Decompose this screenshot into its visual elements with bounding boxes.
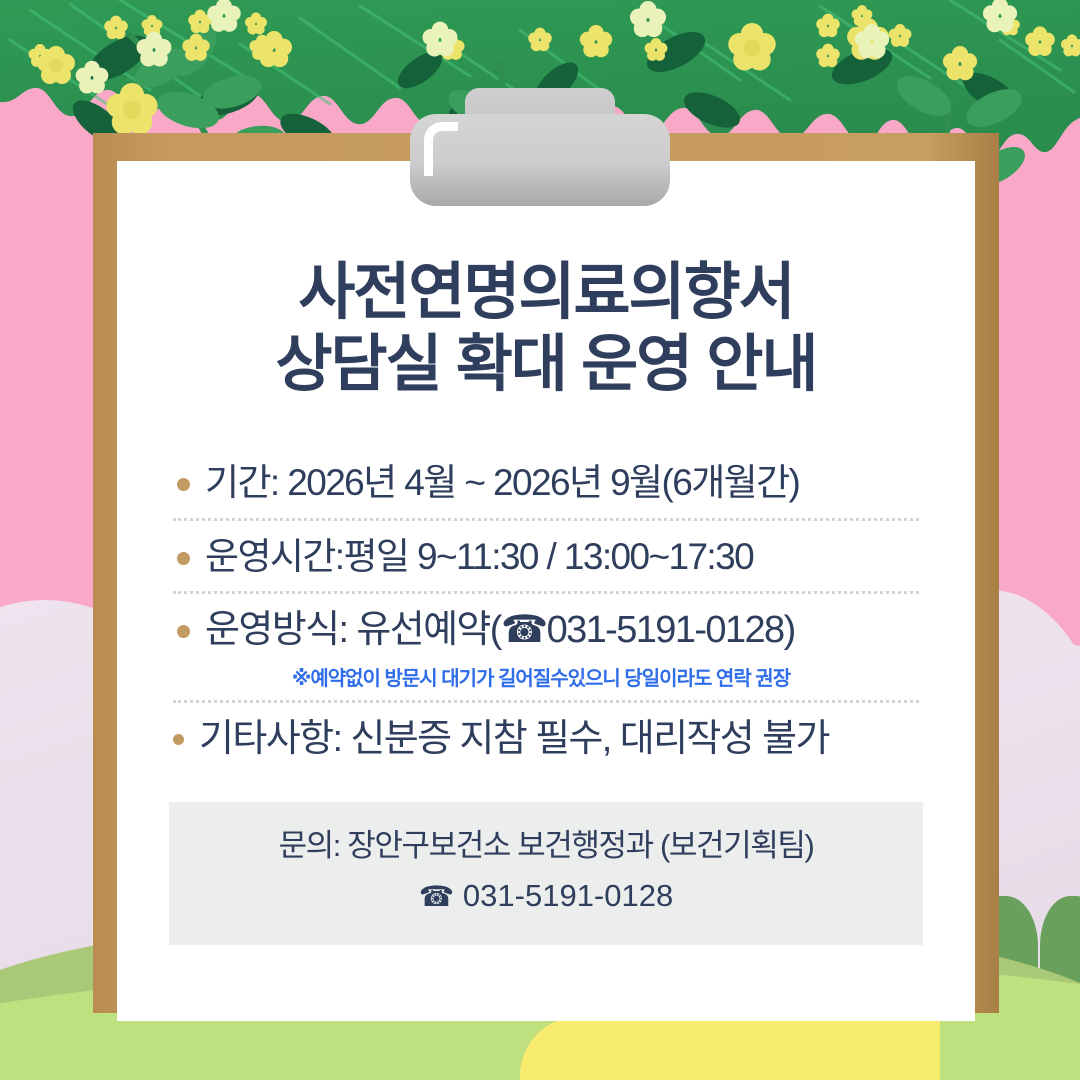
clipboard-clip-icon <box>410 88 670 206</box>
list-item-period: 기간: 2026년 4월 ~ 2026년 9월(6개월간) <box>169 457 923 509</box>
divider-3 <box>173 700 919 703</box>
page-title: 사전연명의료의향서 상담실 확대 운영 안내 <box>169 257 923 401</box>
info-list: 기간: 2026년 4월 ~ 2026년 9월(6개월간) 운영시간:평일 9~… <box>169 457 923 766</box>
divider-2 <box>173 591 919 594</box>
bullet-dot-icon <box>173 734 184 745</box>
divider-1 <box>173 518 919 521</box>
reservation-note: ※예약없이 방문시 대기가 길어질수있으니 당일이라도 연락 권장 <box>169 662 913 691</box>
list-item-label: 운영시간:평일 9~11:30 / 13:00~17:30 <box>205 531 917 583</box>
clip-highlight <box>424 122 458 176</box>
contact-phone-row: ☎ 031-5191-0128 <box>179 873 913 920</box>
telephone-icon: ☎ <box>419 881 455 913</box>
bullet-dot-icon <box>177 552 190 565</box>
path-shape-lower <box>520 1016 940 1080</box>
list-item-label: 운영방식: 유선예약(☎031-5191-0128) <box>205 604 917 657</box>
bullet-dot-icon <box>177 478 190 491</box>
list-item-etc: 기타사항: 신분증 지참 필수, 대리작성 불가 <box>169 713 923 766</box>
list-item-method: 운영방식: 유선예약(☎031-5191-0128) <box>169 604 923 657</box>
list-item-label: 기타사항: 신분증 지참 필수, 대리작성 불가 <box>199 713 917 766</box>
list-item-hours: 운영시간:평일 9~11:30 / 13:00~17:30 <box>169 531 923 583</box>
bullet-dot-icon <box>177 625 190 638</box>
contact-box: 문의: 장안구보건소 보건행정과 (보건기획팀) ☎ 031-5191-0128 <box>169 802 923 945</box>
poster-content: 사전연명의료의향서 상담실 확대 운영 안내 기간: 2026년 4월 ~ 20… <box>117 161 975 1021</box>
poster-root: 사전연명의료의향서 상담실 확대 운영 안내 기간: 2026년 4월 ~ 20… <box>0 0 1080 1080</box>
contact-phone-number: 031-5191-0128 <box>463 878 673 913</box>
contact-department: 문의: 장안구보건소 보건행정과 (보건기획팀) <box>179 824 913 869</box>
list-item-label: 기간: 2026년 4월 ~ 2026년 9월(6개월간) <box>205 457 917 509</box>
